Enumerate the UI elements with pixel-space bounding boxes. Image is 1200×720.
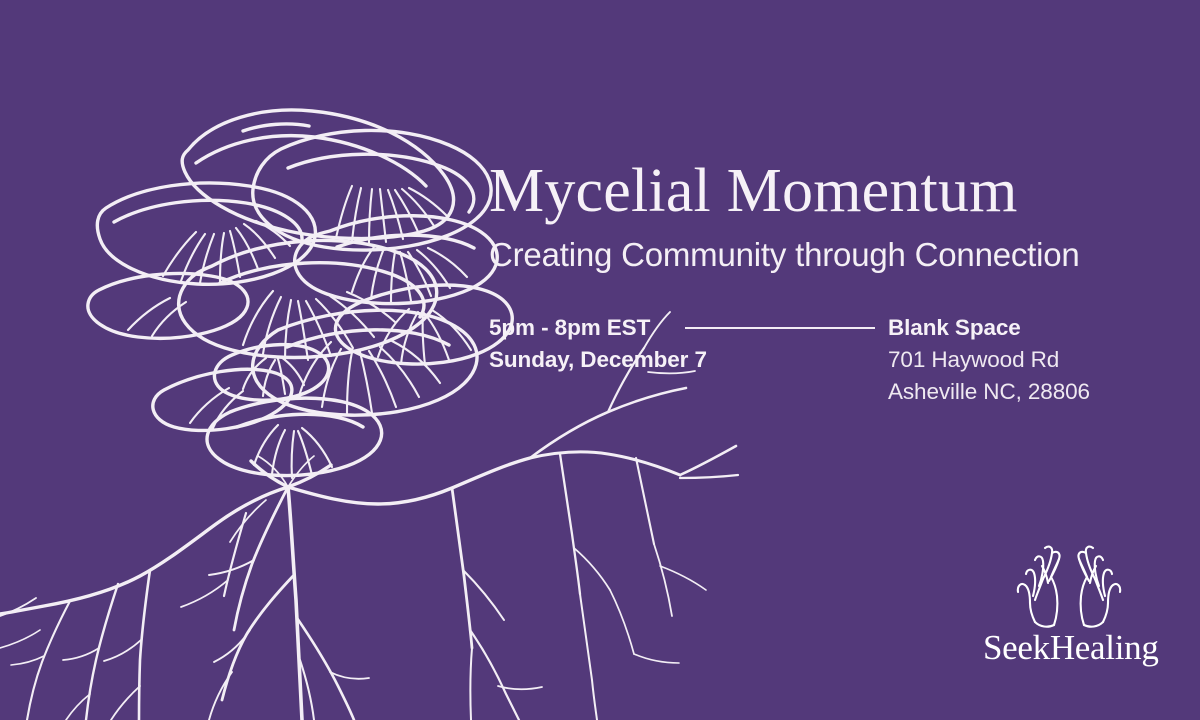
venue-block: Blank Space 701 Haywood Rd Asheville NC,…	[888, 312, 1090, 408]
two-open-hands-icon	[1004, 536, 1134, 628]
event-time: 5pm - 8pm EST	[489, 312, 685, 344]
venue-city: Asheville NC, 28806	[888, 376, 1090, 408]
event-subtitle: Creating Community through Connection	[489, 236, 1149, 274]
divider-rule	[685, 327, 875, 329]
event-details-row: 5pm - 8pm EST Sunday, December 7 Blank S…	[489, 312, 1159, 408]
title-block: Mycelial Momentum Creating Community thr…	[489, 160, 1149, 274]
left-hand-icon	[1018, 547, 1060, 627]
mushroom-cluster-illustration	[88, 110, 512, 487]
details-divider	[685, 312, 888, 344]
event-poster: Mycelial Momentum Creating Community thr…	[0, 0, 1200, 720]
right-hand-icon	[1078, 547, 1120, 627]
seekhealing-logo: SeekHealing	[983, 536, 1155, 665]
time-and-date-block: 5pm - 8pm EST Sunday, December 7	[489, 312, 685, 376]
event-date: Sunday, December 7	[489, 344, 685, 376]
event-title: Mycelial Momentum	[489, 160, 1149, 222]
logo-wordmark: SeekHealing	[983, 630, 1155, 665]
venue-name: Blank Space	[888, 312, 1090, 344]
venue-street: 701 Haywood Rd	[888, 344, 1090, 376]
